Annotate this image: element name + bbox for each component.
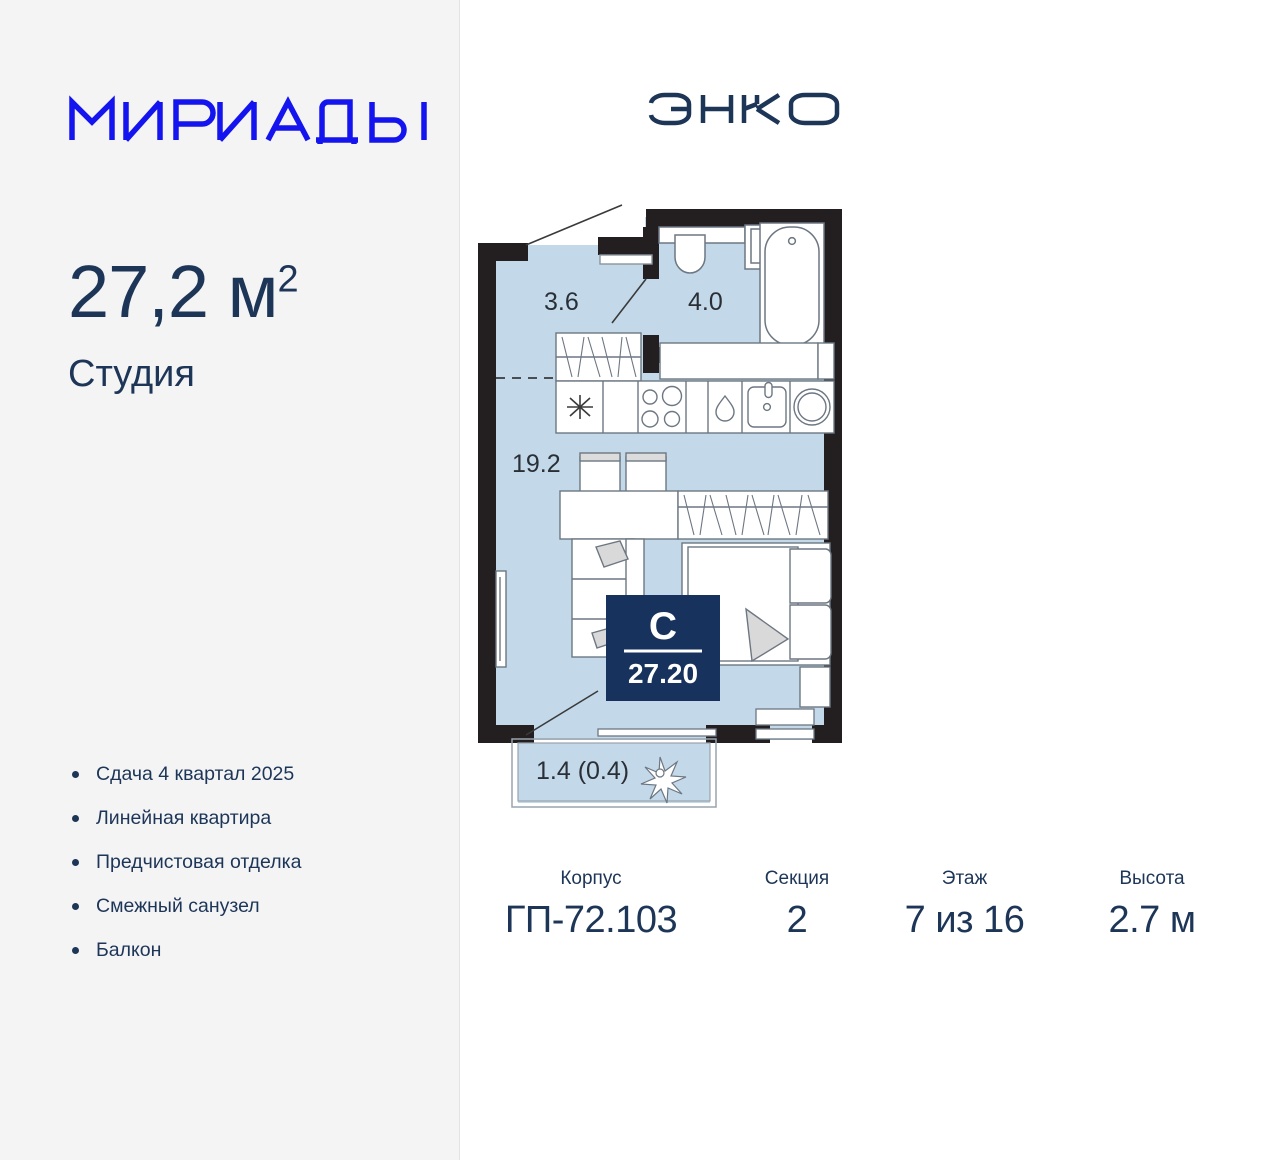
floorplan-page: 27,2 м2 Студия Сдача 4 квартал 2025 Лине… — [0, 0, 1280, 1160]
info-floor: Этаж 7 из 16 — [872, 868, 1057, 942]
hall-entry-panel — [600, 255, 652, 264]
developer-logo-enko — [645, 90, 845, 135]
room-label-balcony: 1.4 (0.4) — [536, 757, 629, 785]
floorplan-panel: 3.6 4.0 19.2 1.4 (0.4) С 27.20 Корпус ГП… — [460, 0, 1280, 1160]
room-label-hall: 3.6 — [544, 288, 579, 316]
list-item: Линейная квартира — [72, 796, 301, 840]
room-label-living-kitchen: 19.2 — [512, 450, 561, 478]
feature-label: Смежный санузел — [96, 895, 260, 918]
area-summary: 27,2 м2 Студия — [68, 255, 298, 393]
info-label: Высота — [1057, 868, 1247, 890]
feature-label: Сдача 4 квартал 2025 — [96, 763, 294, 786]
feature-label: Балкон — [96, 939, 161, 962]
list-item: Сдача 4 квартал 2025 — [72, 752, 301, 796]
apartment-type-badge: С 27.20 — [606, 595, 720, 701]
info-section: Секция 2 — [722, 868, 872, 942]
room-label-bathroom: 4.0 — [688, 288, 723, 316]
info-height: Высота 2.7 м — [1057, 868, 1247, 942]
info-value: 2.7 м — [1057, 899, 1247, 942]
info-value: ГП-72.103 — [460, 899, 722, 942]
feature-label: Предчистовая отделка — [96, 851, 301, 874]
info-value: 7 из 16 — [872, 899, 1057, 942]
bullet-icon — [72, 859, 79, 866]
bullet-icon — [72, 771, 79, 778]
info-label: Секция — [722, 868, 872, 890]
bedroom-wardrobe — [678, 491, 828, 539]
apartment-type: Студия — [68, 355, 298, 393]
bullet-icon — [72, 947, 79, 954]
apartment-area: 27,2 м2 — [68, 255, 298, 329]
bullet-icon — [72, 903, 79, 910]
list-item: Смежный санузел — [72, 884, 301, 928]
brand-logo-miriady — [68, 88, 438, 144]
info-label: Корпус — [460, 868, 722, 890]
info-korpus: Корпус ГП-72.103 — [460, 868, 722, 942]
left-wall-radiator — [496, 571, 506, 667]
info-value: 2 — [722, 899, 872, 942]
info-label: Этаж — [872, 868, 1057, 890]
feature-label: Линейная квартира — [96, 807, 271, 830]
info-sidebar: 27,2 м2 Студия Сдача 4 квартал 2025 Лине… — [0, 0, 460, 1160]
bullet-icon — [72, 815, 79, 822]
list-item: Предчистовая отделка — [72, 840, 301, 884]
badge-area: 27.20 — [628, 658, 698, 689]
building-info-row: Корпус ГП-72.103 Секция 2 Этаж 7 из 16 В… — [460, 868, 1280, 942]
feature-list: Сдача 4 квартал 2025 Линейная квартира П… — [72, 752, 301, 972]
kitchen-counter-row — [556, 381, 834, 433]
right-window — [756, 709, 814, 739]
badge-letter: С — [649, 605, 677, 648]
floorplan-drawing: 3.6 4.0 19.2 1.4 (0.4) С 27.20 — [460, 195, 1280, 825]
list-item: Балкон — [72, 928, 301, 972]
